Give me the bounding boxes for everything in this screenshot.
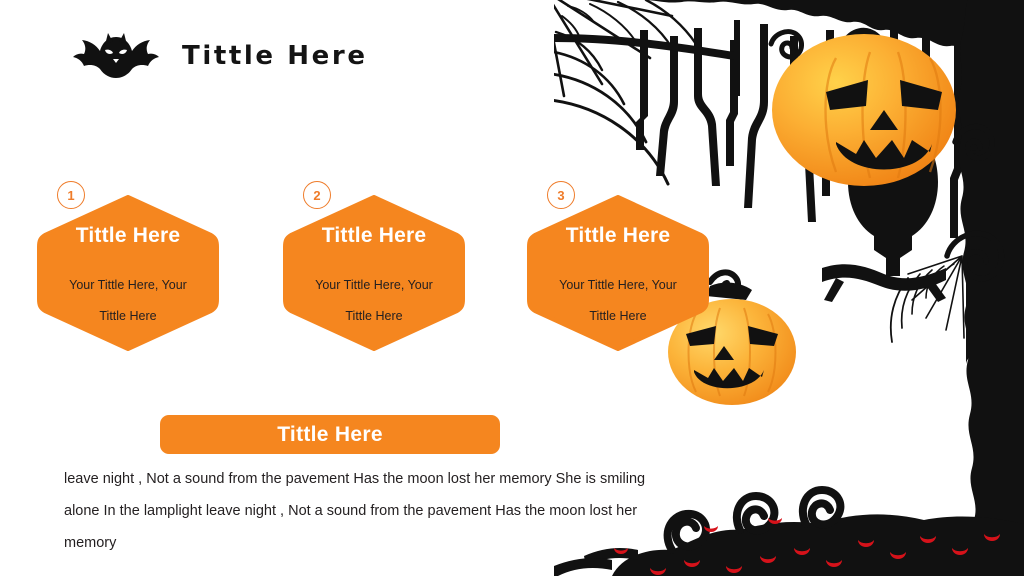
card-number-badge: 2 bbox=[303, 181, 331, 209]
section-banner-label: Tittle Here bbox=[277, 423, 383, 447]
hex-card-1[interactable]: 1 Tittle Here Your Tittle Here, Your Tit… bbox=[37, 195, 219, 351]
hex-card-content: Tittle Here Your Tittle Here, Your Tittl… bbox=[527, 195, 709, 351]
spiral-branch-icon bbox=[947, 127, 1001, 279]
slide-canvas: Tittle Here 1 Tittle Here Your Tittle He… bbox=[0, 0, 1024, 576]
body-paragraph: leave night , Not a sound from the pavem… bbox=[64, 463, 664, 560]
hex-card-body-line1: Your Tittle Here, Your bbox=[290, 270, 458, 301]
hex-card-title: Tittle Here bbox=[76, 225, 181, 246]
hex-card-title: Tittle Here bbox=[322, 225, 427, 246]
hex-card-2[interactable]: 2 Tittle Here Your Tittle Here, Your Tit… bbox=[283, 195, 465, 351]
spider-web-icon bbox=[891, 256, 964, 342]
pumpkin-icon bbox=[772, 31, 956, 186]
spider-web-icon bbox=[554, 0, 696, 184]
hex-card-content: Tittle Here Your Tittle Here, Your Tittl… bbox=[37, 195, 219, 351]
page-title: Tittle Here bbox=[182, 41, 368, 71]
hex-card-body-line1: Your Tittle Here, Your bbox=[44, 270, 212, 301]
section-banner[interactable]: Tittle Here bbox=[160, 415, 500, 454]
hex-card-body: Your Tittle Here, Your Tittle Here bbox=[534, 270, 702, 331]
card-number-badge: 3 bbox=[547, 181, 575, 209]
slide-header: Tittle Here bbox=[72, 28, 368, 84]
hex-card-title: Tittle Here bbox=[566, 225, 671, 246]
hex-card-body: Your Tittle Here, Your Tittle Here bbox=[290, 270, 458, 331]
card-number-badge: 1 bbox=[57, 181, 85, 209]
bat-icon bbox=[72, 29, 160, 83]
hex-card-3[interactable]: 3 Tittle Here Your Tittle Here, Your Tit… bbox=[527, 195, 709, 351]
hex-card-body-line2: Tittle Here bbox=[290, 301, 458, 332]
hex-card-body-line1: Your Tittle Here, Your bbox=[534, 270, 702, 301]
hex-card-body-line2: Tittle Here bbox=[44, 301, 212, 332]
hex-card-body: Your Tittle Here, Your Tittle Here bbox=[44, 270, 212, 331]
glowing-eyes-icon bbox=[614, 518, 1000, 575]
owl-icon bbox=[822, 124, 946, 302]
hex-card-content: Tittle Here Your Tittle Here, Your Tittl… bbox=[283, 195, 465, 351]
hex-card-body-line2: Tittle Here bbox=[534, 301, 702, 332]
